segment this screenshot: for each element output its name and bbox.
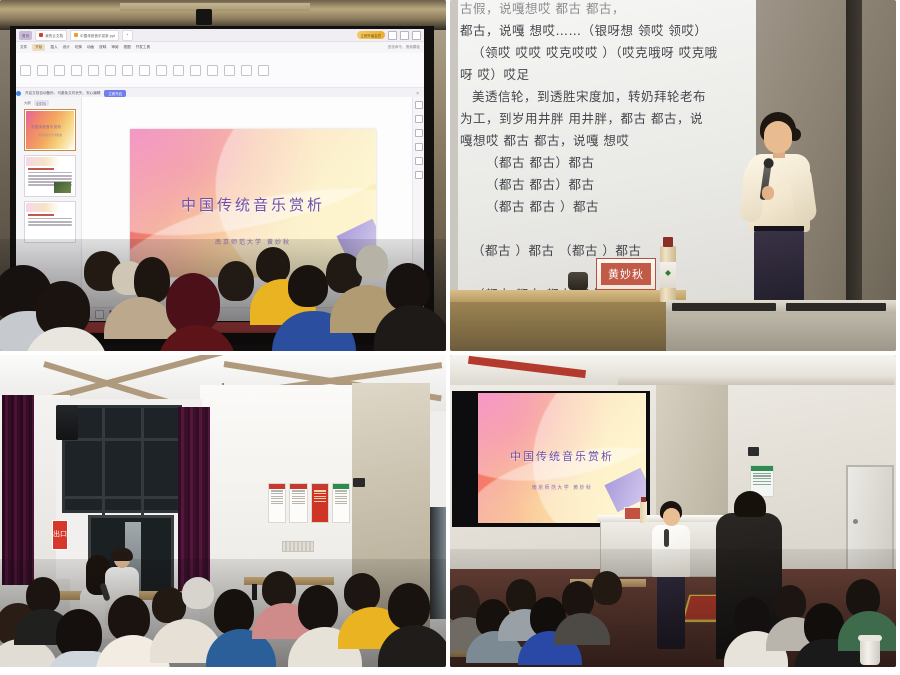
new-tab-button[interactable]: +: [122, 30, 132, 41]
lyric-line: 为工，到岁用井胖 用井胖，都古 都古，说: [460, 108, 760, 130]
bottle-cap: [663, 237, 673, 247]
crop-icon[interactable]: [415, 171, 423, 179]
new-slide-icon: [88, 65, 99, 76]
ribbon-toolbar: [16, 53, 424, 88]
cup-lid: [858, 635, 882, 641]
exit-sign: 出口: [52, 520, 68, 550]
shape-icon: [224, 65, 235, 76]
bottle-label: [660, 262, 676, 288]
water-bottle: [660, 246, 676, 302]
cut-button[interactable]: [37, 65, 48, 76]
lyric-line: 美透信轮，到透胜宋度加，转奶拜轮老布: [460, 86, 760, 108]
bullet-list-icon: [190, 65, 201, 76]
bullet-list-button[interactable]: [190, 65, 201, 76]
ribbon-tab-review[interactable]: 审阅: [111, 45, 118, 50]
vip-upgrade-button[interactable]: 立即升级会员: [357, 31, 385, 39]
audience-head: [386, 263, 430, 311]
name-placard-text: 黄妙秋: [601, 263, 651, 285]
poster-header: [290, 484, 306, 489]
backup-notice-text: 开启文档自动备份，可避免文件丢失、安心编辑: [25, 91, 100, 96]
thumb-line: [28, 178, 72, 180]
gear-icon[interactable]: [415, 115, 423, 123]
speaker-with-lyrics-photo: 古假，说嘎想哎 都古 都古， 都古，说嘎 想哎……（银呀想 领哎 领哎） （领哎…: [450, 0, 896, 351]
speaker-figure: [736, 112, 822, 312]
cloud-doc-icon: [39, 33, 43, 37]
audience-cap: [182, 577, 214, 609]
lyric-line: （领哎 哎哎 哎克哎哎 ）（哎克哦呀 哎克哦: [460, 42, 760, 64]
layout-button[interactable]: [105, 65, 116, 76]
thumb-line: [28, 221, 72, 223]
lyric-line: （都古 都古）都古: [460, 174, 760, 196]
slide-thumbnail-1[interactable]: 中国传统音乐赏析 南京师范大学 黄妙秋: [24, 109, 76, 151]
audience-head: [388, 583, 430, 629]
thumb-image-2: [54, 182, 71, 193]
resize-icon[interactable]: [415, 101, 423, 109]
reset-button[interactable]: [122, 65, 133, 76]
curtain-left: [2, 395, 34, 585]
wall-loudspeaker: [56, 405, 78, 440]
audience-head: [344, 573, 380, 611]
thumb-header-band: [26, 157, 74, 166]
thumb-line: [28, 172, 72, 174]
close-icon[interactable]: [412, 31, 421, 40]
find-icon: [258, 65, 269, 76]
ribbon-tab-file[interactable]: 文件: [20, 45, 27, 50]
audience-head: [592, 571, 622, 605]
audience-head: [108, 595, 150, 641]
thumb-heading-3: [28, 214, 54, 216]
thumb-heading-2: [28, 168, 54, 170]
lyric-line: 都古，说嘎 想哎……（银呀想 领哎 领哎）: [460, 20, 760, 42]
thumb-line: [28, 224, 72, 226]
reset-icon: [122, 65, 133, 76]
speaker-face: [764, 121, 792, 153]
underline-icon: [173, 65, 184, 76]
poster-header: [269, 484, 285, 489]
audience-head: [774, 585, 806, 621]
window-mullion: [102, 408, 105, 516]
italic-button[interactable]: [156, 65, 167, 76]
wall-poster-green: [332, 483, 350, 523]
play-icon: [71, 65, 82, 76]
poster-header: [312, 484, 328, 489]
lyric-line-spacer: [460, 218, 760, 240]
thumb-body-lines: [28, 214, 72, 227]
wall-vent-grille: [282, 541, 314, 552]
poster-header: [333, 484, 349, 489]
textbox-icon: [241, 65, 252, 76]
lyric-line: （都古 都古）都古: [460, 152, 760, 174]
ribbon-tab-transition[interactable]: 切换: [75, 45, 82, 50]
thumb-line: [28, 175, 72, 177]
copy-icon[interactable]: [415, 129, 423, 137]
ribbon-tab-developer[interactable]: 开发工具: [136, 45, 150, 50]
classroom-wide-photo: 出口: [0, 355, 446, 667]
ribbon-tab-bar: 文件 开始 插入 设计 切换 动画 放映 审阅 视图 开发工具 查找命令、搜索模…: [16, 42, 424, 53]
desk-object: [568, 272, 588, 290]
titlebar-controls: 立即升级会员: [357, 31, 421, 40]
wall-poster-red: [311, 483, 329, 523]
audience-head: [214, 589, 254, 635]
window-mullion: [141, 408, 144, 516]
audience-head: [288, 265, 328, 307]
italic-icon: [156, 65, 167, 76]
align-icon: [207, 65, 218, 76]
microphone-icon: [664, 529, 669, 547]
desk-top: [450, 290, 686, 302]
audience-head: [152, 587, 186, 623]
dark-pillar: [846, 0, 862, 320]
audience-head: [218, 261, 254, 301]
projector-screen-photo: 首页 我的云文档 中国传统音乐赏析.ppt + 立即升级会: [0, 0, 446, 351]
speaker-trousers: [754, 228, 804, 302]
student-hair: [734, 491, 766, 517]
security-camera: [353, 478, 365, 487]
tab-cloud-docs[interactable]: 我的云文档: [35, 30, 67, 41]
lyric-line: （都古 都古 ）都古: [460, 196, 760, 218]
lyric-line: 古假，说嘎想哎 都古 都古，: [460, 0, 760, 20]
audience-head: [562, 581, 594, 617]
bold-icon: [139, 65, 150, 76]
paste-icon: [20, 65, 31, 76]
thumb-title-1: 中国传统音乐赏析: [31, 124, 61, 129]
panel-tab-bar: 大纲 幻灯片: [24, 100, 79, 106]
ribbon-tab-insert[interactable]: 插入: [50, 45, 57, 50]
new-slide-button[interactable]: [88, 65, 99, 76]
speaker-hand: [762, 186, 774, 200]
exit-sign-text: 出口: [53, 531, 67, 539]
lyric-line: 呀 哎）哎足: [460, 64, 760, 86]
paper-cup: [860, 639, 880, 665]
slide-thumbnail-3[interactable]: [24, 201, 76, 243]
underline-button[interactable]: [173, 65, 184, 76]
format-brush-button[interactable]: [54, 65, 65, 76]
wps-titlebar: 首页 我的云文档 中国传统音乐赏析.ppt + 立即升级会: [16, 29, 424, 42]
ribbon-tab-view[interactable]: 视图: [124, 45, 131, 50]
photo-bottom-right: 中国传统音乐赏析 南京师范大学 黄妙秋: [450, 355, 900, 675]
tab-active-file-label: 中国传统音乐赏析.ppt: [80, 33, 115, 38]
tab-active-file[interactable]: 中国传统音乐赏析.ppt: [70, 30, 119, 41]
audience-head: [26, 577, 60, 613]
photo-bottom-left: 出口: [0, 355, 450, 675]
thumb-subtitle-1: 南京师范大学 黄妙秋: [38, 133, 62, 137]
audience-head: [166, 273, 220, 333]
window-frame: [62, 405, 182, 513]
ribbon-tab-animation[interactable]: 动画: [87, 45, 94, 50]
ribbon-tab-slideshow[interactable]: 放映: [99, 45, 106, 50]
audience-foreground: [0, 559, 446, 667]
podium-panel-right: [786, 303, 886, 311]
slide-title: 中国传统音乐赏析: [478, 448, 646, 464]
bold-button[interactable]: [139, 65, 150, 76]
wall-poster: [289, 483, 307, 523]
paste-button[interactable]: [20, 65, 31, 76]
notice-header: [751, 466, 773, 471]
eye-icon[interactable]: [415, 157, 423, 165]
find-replace-button[interactable]: [258, 65, 269, 76]
window-transom: [65, 496, 185, 499]
thumb-header-band: [26, 203, 74, 212]
minimize-icon[interactable]: [388, 31, 397, 40]
slide-thumbnail-2[interactable]: [24, 155, 76, 197]
screen-left-edge: [450, 0, 458, 308]
window-transom: [65, 438, 185, 441]
audience-foreground: [0, 239, 446, 351]
ppt-file-icon: [74, 33, 78, 37]
info-icon: [16, 91, 21, 96]
layout-icon: [105, 65, 116, 76]
panel-tab-outline[interactable]: 大纲: [24, 100, 31, 106]
tab-cloud-docs-label: 我的云文档: [45, 33, 63, 38]
projected-slide: 中国传统音乐赏析 南京师范大学 黄妙秋: [478, 393, 646, 523]
audience-head: [262, 571, 296, 607]
align-button[interactable]: [207, 65, 218, 76]
wooden-desk: [450, 290, 686, 351]
slide-title: 中国传统音乐赏析: [130, 194, 376, 215]
textbox-button[interactable]: [241, 65, 252, 76]
podium-panel-left: [672, 303, 776, 311]
enable-backup-button[interactable]: 立即开启: [104, 90, 126, 97]
control-podium: [666, 300, 896, 351]
panel-tab-slides[interactable]: 幻灯片: [34, 100, 49, 106]
lecture-hall-photo: 中国传统音乐赏析 南京师范大学 黄妙秋: [450, 355, 896, 667]
audience-cap: [356, 245, 388, 279]
maximize-icon[interactable]: [400, 31, 409, 40]
wall-poster: [268, 483, 286, 523]
speaker-face: [663, 508, 680, 526]
start-slideshow-button[interactable]: [71, 65, 82, 76]
shape-button[interactable]: [224, 65, 235, 76]
audience-head: [256, 247, 290, 283]
dismiss-notice-icon[interactable]: ×: [416, 91, 419, 97]
scissors-icon: [37, 65, 48, 76]
thumb-background: [26, 111, 74, 149]
brush-icon: [54, 65, 65, 76]
search-input[interactable]: 查找命令、搜索模板: [388, 45, 420, 50]
tab-home[interactable]: 首页: [19, 31, 32, 40]
speaker-belt: [754, 226, 804, 231]
photo-collage: 首页 我的云文档 中国传统音乐赏析.ppt + 立即升级会: [0, 0, 900, 675]
audience-foreground: [450, 549, 896, 667]
ribbon-tab-start[interactable]: 开始: [32, 44, 45, 51]
security-camera: [748, 447, 759, 456]
picture-icon[interactable]: [415, 143, 423, 151]
wall-poster-group: [268, 483, 350, 523]
audience-head: [298, 585, 338, 631]
thumb-line: [28, 218, 72, 220]
photo-top-right: 古假，说嘎想哎 都古 都古， 都古，说嘎 想哎……（银呀想 领哎 领哎） （领哎…: [450, 0, 900, 355]
photo-top-left: 首页 我的云文档 中国传统音乐赏析.ppt + 立即升级会: [0, 0, 450, 355]
projector-mount: [196, 9, 212, 25]
name-placard: 黄妙秋: [596, 258, 656, 290]
slide-subtitle: 南京师范大学 黄妙秋: [478, 484, 646, 491]
lyric-line: 嘎想哎 都古 都古，说嘎 想哎: [460, 130, 760, 152]
ribbon-tab-design[interactable]: 设计: [63, 45, 70, 50]
door-knob: [853, 519, 858, 524]
